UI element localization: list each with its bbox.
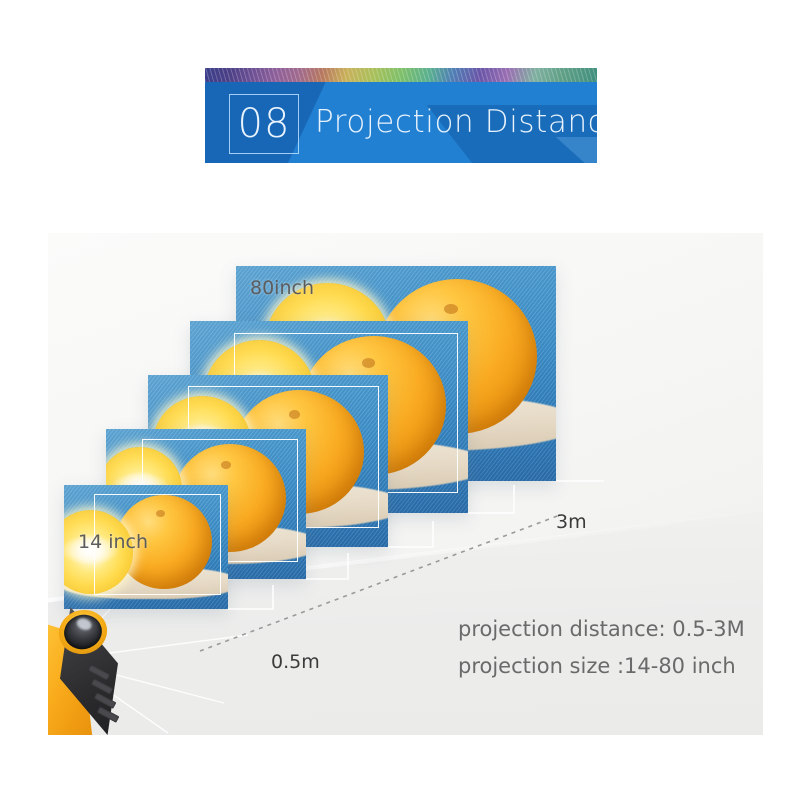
page-title: Projection Distance bbox=[315, 104, 597, 140]
spec-projection-size: projection size :14-80 inch bbox=[458, 654, 736, 678]
page-root: 08 Projection Distance 80inch bbox=[0, 0, 800, 800]
section-header-banner: 08 Projection Distance bbox=[205, 68, 597, 163]
banner-corner-highlight bbox=[547, 137, 597, 163]
banner-color-strip bbox=[205, 68, 597, 82]
near-distance-label: 0.5m bbox=[271, 651, 320, 673]
projector-icon bbox=[48, 607, 132, 735]
screen-14inch: 14 inch bbox=[64, 485, 228, 609]
screen-label-14inch: 14 inch bbox=[78, 531, 148, 553]
far-distance-label: 3m bbox=[556, 511, 587, 533]
section-number: 08 bbox=[238, 104, 291, 144]
screen-label-80inch: 80inch bbox=[250, 277, 314, 299]
projection-diagram: 80inch bbox=[48, 233, 763, 735]
spec-projection-distance: projection distance: 0.5-3M bbox=[458, 617, 745, 641]
section-number-box: 08 bbox=[229, 94, 299, 154]
